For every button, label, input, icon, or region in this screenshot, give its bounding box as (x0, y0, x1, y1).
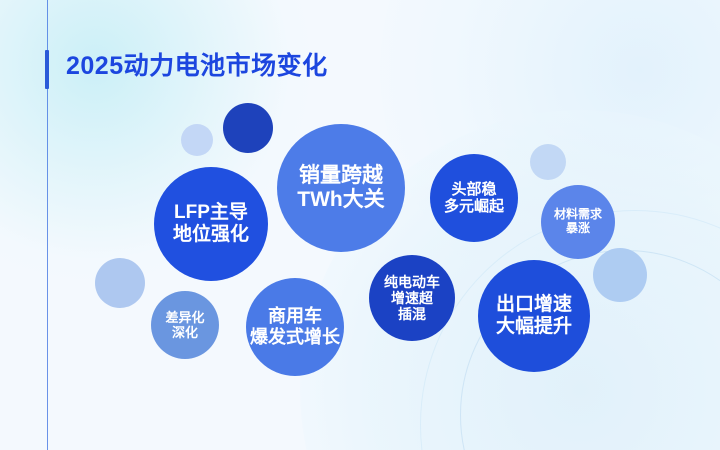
bubble-label-line: 深化 (172, 325, 198, 340)
bubble-label-line: 暴涨 (566, 222, 590, 236)
bubble-label-line: 差异化 (165, 310, 204, 325)
bubble-label-line: 销量跨越 (299, 164, 383, 188)
bubble-label-line: 大幅提升 (496, 316, 572, 338)
bubble-label-line: 出口增速 (496, 294, 572, 316)
bubble-label-line: 地位强化 (173, 224, 249, 246)
bubble-label-line: 插混 (398, 306, 426, 322)
bubble-label-line: 增速超 (391, 290, 433, 306)
title-accent-bar (45, 50, 49, 89)
deco-pale-bottom (593, 248, 647, 302)
page-title: 2025动力电池市场变化 (66, 48, 328, 84)
bubble-label-line: 纯电动车 (384, 274, 440, 290)
bubble-label-line: 头部稳 (451, 181, 496, 198)
bubble-bev-over-phev[interactable]: 纯电动车增速超插混 (369, 255, 455, 341)
bubble-label-line: 多元崛起 (444, 198, 504, 215)
bubble-commercial-vehicle[interactable]: 商用车爆发式增长 (246, 278, 344, 376)
bubble-lfp-dominance[interactable]: LFP主导地位强化 (154, 167, 268, 281)
bubble-label-line: 商用车 (268, 306, 322, 327)
bubble-label-line: LFP主导 (174, 202, 248, 224)
bubble-label-line: 材料需求 (554, 208, 602, 222)
bubble-sales-twh[interactable]: 销量跨越TWh大关 (277, 124, 405, 252)
bubble-differentiation[interactable]: 差异化深化 (151, 291, 219, 359)
bubble-leaders-stable[interactable]: 头部稳多元崛起 (430, 154, 518, 242)
deco-pale-top (181, 124, 213, 156)
deco-pale-left (95, 258, 145, 308)
infographic-canvas: 2025动力电池市场变化 LFP主导地位强化销量跨越TWh大关头部稳多元崛起材料… (0, 0, 720, 450)
deco-pale-right (530, 144, 566, 180)
deco-navy-top (223, 103, 273, 153)
bubble-label-line: TWh大关 (297, 188, 384, 212)
bubble-export-growth[interactable]: 出口增速大幅提升 (478, 260, 590, 372)
bubble-material-demand[interactable]: 材料需求暴涨 (541, 185, 615, 259)
bubble-label-line: 爆发式增长 (250, 327, 340, 348)
